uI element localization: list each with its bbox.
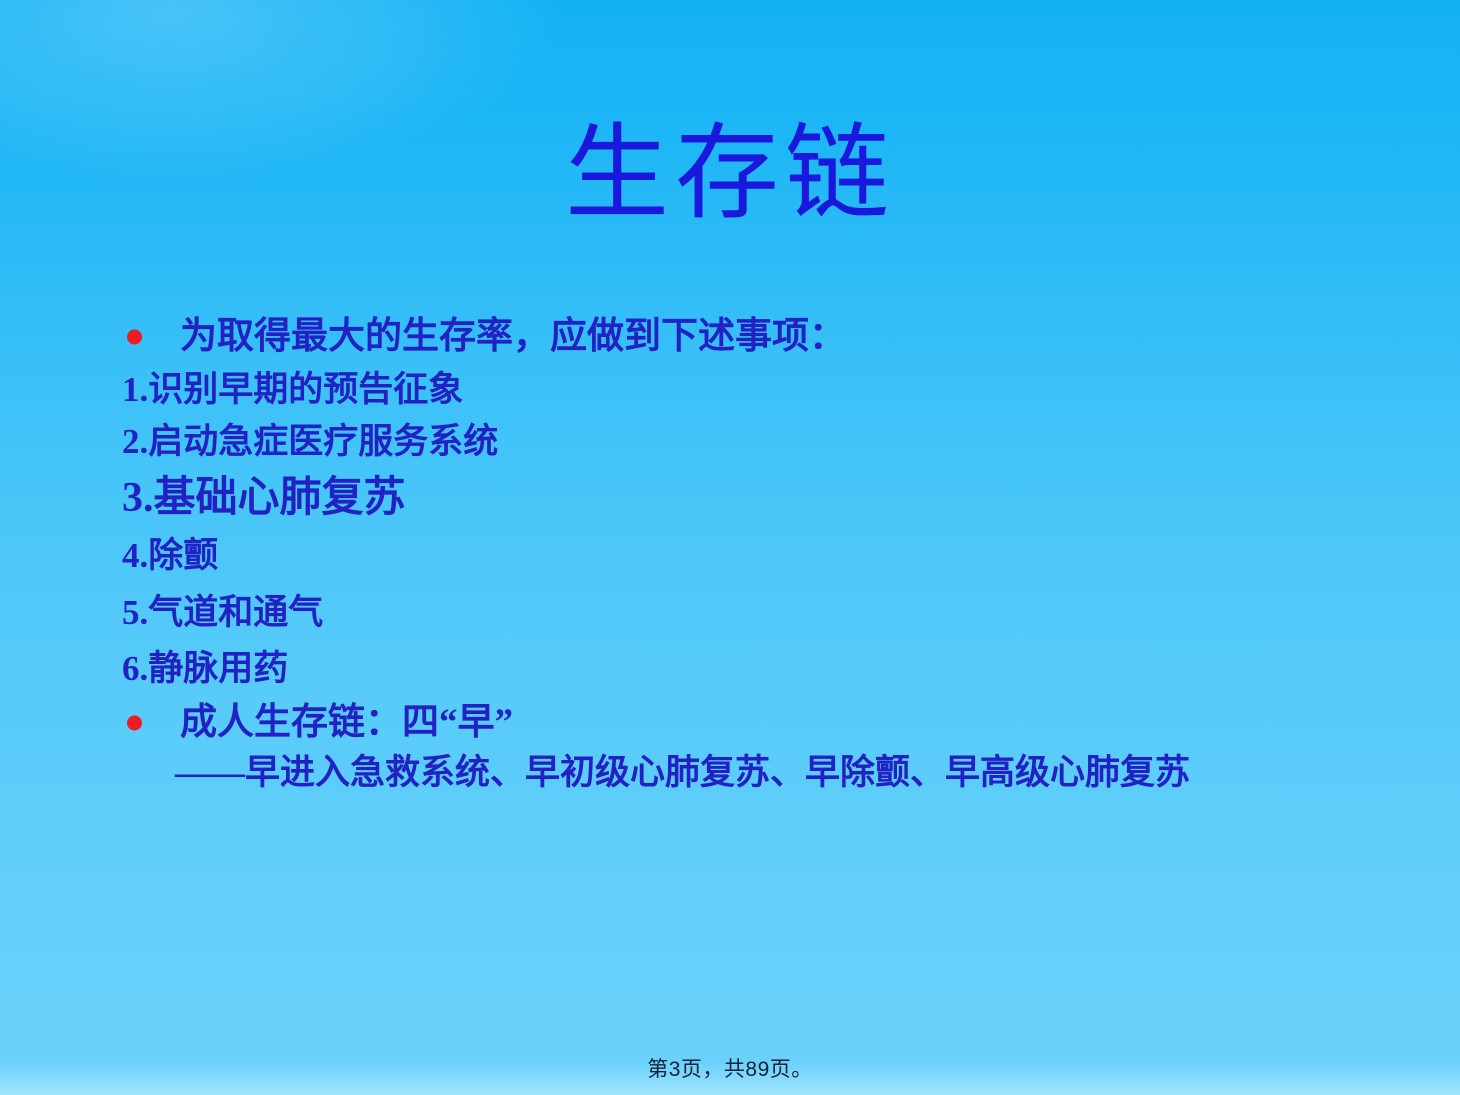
numbered-item-5: 5.气道和通气 [118,585,1348,642]
red-dot-bullet-icon [127,329,142,344]
numbered-item-6: 6.静脉用药 [118,641,1348,698]
slide-title: 生存链 [0,118,1460,232]
red-dot-bullet-icon [127,716,142,731]
numbered-item-1: 1.识别早期的预告征象 [118,364,1348,416]
bullet-item-2-label: 成人生存链：四“早” [180,702,513,743]
bullet-item-1: 为取得最大的生存率，应做到下述事项： [118,312,1348,362]
bullet-item-2: 成人生存链：四“早” [118,698,1348,748]
slide-body: 为取得最大的生存率，应做到下述事项： 1.识别早期的预告征象 2.启动急症医疗服… [118,312,1348,796]
sub-note-text: ——早进入急救系统、早初级心肺复苏、早除颤、早高级心肺复苏 [118,750,1348,796]
numbered-item-3: 3.基础心肺复苏 [118,468,1348,528]
page-indicator: 第3页，共89页。 [647,1058,813,1081]
numbered-item-4: 4.除颤 [118,528,1348,585]
slide-footer: 第3页，共89页。 [0,1053,1460,1083]
numbered-item-2: 2.启动急症医疗服务系统 [118,416,1348,468]
presentation-slide: 生存链 为取得最大的生存率，应做到下述事项： 1.识别早期的预告征象 2.启动急… [0,0,1460,1095]
bullet-item-1-label: 为取得最大的生存率，应做到下述事项： [180,316,846,357]
